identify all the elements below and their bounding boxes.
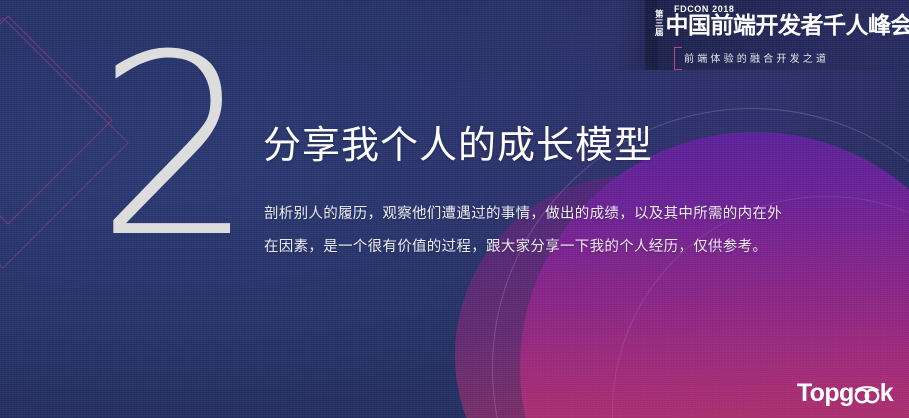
logo-eyes-icon [854, 383, 880, 405]
conference-brand-lockup: FDCON 2018 第 三 届 中国前端开发者千人峰会 前端体验的融合开发之道 [655, 3, 905, 67]
slide-title: 分享我个人的成长模型 [263, 124, 653, 168]
brand-ordinal-bottom: 届 [655, 28, 664, 37]
brand-tagline: 前端体验的融合开发之道 [674, 47, 835, 68]
presentation-slide: FDCON 2018 第 三 届 中国前端开发者千人峰会 前端体验的融合开发之道… [0, 0, 909, 418]
slide-body: 剖析别人的履历，观察他们遭遇过的事情，做出的成绩，以及其中所需的内在外 在因素，… [264, 198, 824, 264]
brand-name: 中国前端开发者千人峰会 [666, 13, 909, 38]
logo-text-suffix: k [880, 381, 893, 406]
brand-event-tag: FDCON 2018 [674, 4, 735, 14]
slide-body-line-1: 剖析别人的履历，观察他们遭遇过的事情，做出的成绩，以及其中所需的内在外 [264, 198, 824, 231]
slide-body-line-2: 在因素，是一个很有价值的过程，跟大家分享一下我的个人经历，仅供参考。 [264, 231, 824, 264]
brand-ordinal: 第 三 届 [655, 10, 664, 38]
section-number: 2 [96, 22, 251, 272]
logo-text-prefix: Topg [797, 381, 854, 406]
topgeek-logo: Topg k [797, 381, 893, 406]
